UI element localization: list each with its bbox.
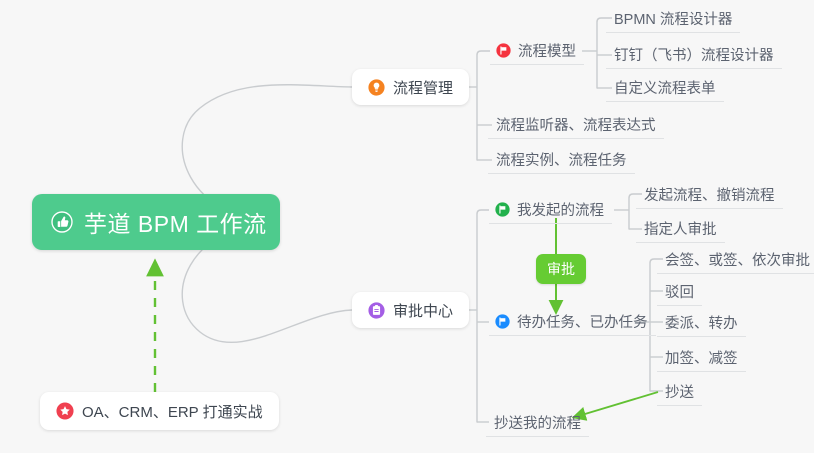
approval-badge[interactable]: 审批 (536, 254, 586, 284)
bottom-note[interactable]: OA、CRM、ERP 打通实战 (40, 392, 279, 430)
node-label: 流程模型 (518, 40, 576, 61)
flag-red-icon (496, 43, 511, 58)
node-delegate-transfer[interactable]: 委派、转办 (657, 309, 746, 337)
node-countersign[interactable]: 会签、或签、依次审批 (657, 246, 814, 274)
node-label: 发起流程、撤销流程 (644, 184, 775, 205)
node-process-model[interactable]: 流程模型 (490, 37, 584, 65)
node-label: 审批中心 (393, 300, 453, 321)
mindmap-canvas: 芋道 BPM 工作流 流程管理 流程模型 BPMN 流程设计器 钉钉（飞书）流程 (0, 0, 814, 453)
node-cc-to-me[interactable]: 抄送我的流程 (486, 409, 589, 437)
node-label: 自定义流程表单 (614, 77, 716, 98)
bottom-note-label: OA、CRM、ERP 打通实战 (82, 401, 263, 422)
node-label: 流程实例、流程任务 (496, 149, 627, 170)
node-label: 抄送我的流程 (494, 412, 581, 433)
node-process-listener[interactable]: 流程监听器、流程表达式 (488, 111, 664, 139)
node-label: 我发起的流程 (517, 199, 604, 220)
node-label: 抄送 (665, 381, 694, 402)
root-node[interactable]: 芋道 BPM 工作流 (32, 194, 280, 250)
thumbs-up-icon (50, 210, 74, 234)
lightbulb-icon (368, 79, 385, 96)
node-label: 流程监听器、流程表达式 (496, 114, 656, 135)
node-process-instance[interactable]: 流程实例、流程任务 (488, 146, 635, 174)
node-label: 委派、转办 (665, 312, 738, 333)
node-label: 加签、减签 (665, 347, 738, 368)
node-cc[interactable]: 抄送 (657, 378, 702, 406)
flag-blue-icon (495, 314, 510, 329)
node-label: 流程管理 (393, 77, 453, 98)
node-reject[interactable]: 驳回 (657, 278, 702, 306)
node-process-management[interactable]: 流程管理 (352, 69, 469, 105)
node-approval-center[interactable]: 审批中心 (352, 292, 469, 328)
node-todo-done-tasks[interactable]: 待办任务、已办任务 (489, 308, 656, 336)
node-bpmn-designer[interactable]: BPMN 流程设计器 (606, 5, 740, 33)
node-start-cancel-process[interactable]: 发起流程、撤销流程 (636, 181, 783, 209)
node-custom-form[interactable]: 自定义流程表单 (606, 74, 724, 102)
node-dingtalk-designer[interactable]: 钉钉（飞书）流程设计器 (606, 41, 782, 69)
approval-badge-label: 审批 (547, 259, 575, 279)
node-label: 指定人审批 (644, 218, 717, 239)
node-assignee-approval[interactable]: 指定人审批 (636, 215, 725, 243)
star-icon (56, 402, 74, 420)
node-label: 待办任务、已办任务 (517, 311, 648, 332)
flag-green-icon (495, 202, 510, 217)
node-label: 钉钉（飞书）流程设计器 (614, 44, 774, 65)
node-my-started-process[interactable]: 我发起的流程 (489, 196, 612, 224)
node-label: 会签、或签、依次审批 (665, 249, 810, 270)
node-label: 驳回 (665, 281, 694, 302)
clipboard-icon (368, 302, 385, 319)
root-label: 芋道 BPM 工作流 (84, 205, 267, 239)
node-add-remove-sign[interactable]: 加签、减签 (657, 344, 746, 372)
node-label: BPMN 流程设计器 (614, 8, 732, 29)
